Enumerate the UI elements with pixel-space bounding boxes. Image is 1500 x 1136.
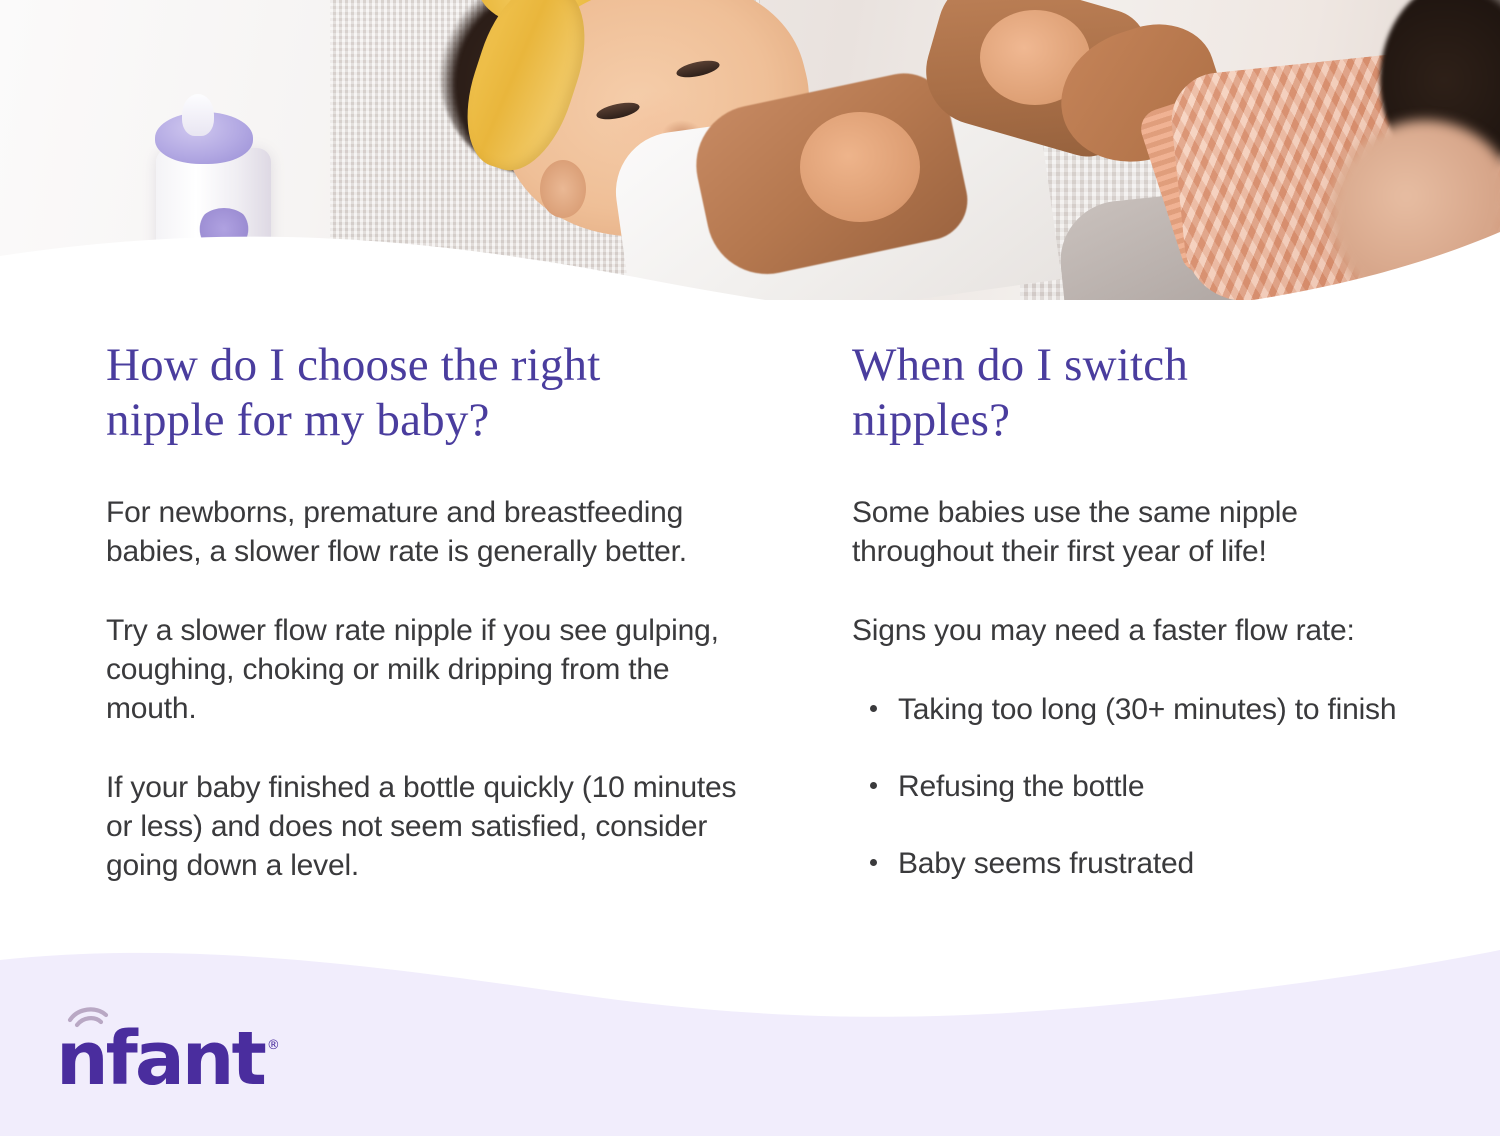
column-choose-nipple: How do I choose the right nipple for my … (106, 300, 766, 885)
list-item: Refusing the bottle (852, 767, 1422, 806)
baby-ear (540, 160, 586, 218)
list-item: Baby seems frustrated (852, 844, 1422, 883)
hero-photo-banner (0, 0, 1500, 300)
paragraph-choose-2: Try a slower flow rate nipple if you see… (106, 611, 766, 728)
list-item-label: Refusing the bottle (898, 770, 1144, 803)
registered-trademark-icon: ® (267, 1038, 280, 1053)
paragraph-choose-3: If your baby finished a bottle quickly (… (106, 768, 766, 885)
logo-wordmark: nfant (56, 1024, 264, 1094)
list-item-label: Taking too long (30+ minutes) to finish (898, 693, 1396, 726)
baby-bottle-nipple (182, 94, 214, 136)
nfant-logo: nfant ® (56, 1024, 280, 1094)
wifi-arcs-icon (66, 998, 114, 1028)
baby-bottle-label (197, 208, 251, 250)
list-item: Taking too long (30+ minutes) to finish (852, 690, 1422, 729)
column-switch-nipples: When do I switch nipples? Some babies us… (852, 300, 1422, 883)
bullet-dot-icon (870, 782, 877, 789)
signs-bullet-list: Taking too long (30+ minutes) to finish … (852, 690, 1422, 883)
paragraph-choose-1: For newborns, premature and breastfeedin… (106, 493, 766, 571)
list-item-label: Baby seems frustrated (898, 847, 1194, 880)
hero-photo-image (0, 0, 1500, 300)
footer-band: nfant ® (0, 936, 1500, 1136)
bullet-dot-icon (870, 859, 877, 866)
section-title-choose-nipple: How do I choose the right nipple for my … (106, 338, 726, 447)
paragraph-switch-2: Signs you may need a faster flow rate: (852, 611, 1422, 650)
section-title-switch-nipples: When do I switch nipples? (852, 338, 1292, 447)
paragraph-switch-1: Some babies use the same nipple througho… (852, 493, 1422, 571)
content-area: How do I choose the right nipple for my … (0, 300, 1500, 940)
bullet-dot-icon (870, 705, 877, 712)
baby-hand-lower (800, 112, 920, 222)
